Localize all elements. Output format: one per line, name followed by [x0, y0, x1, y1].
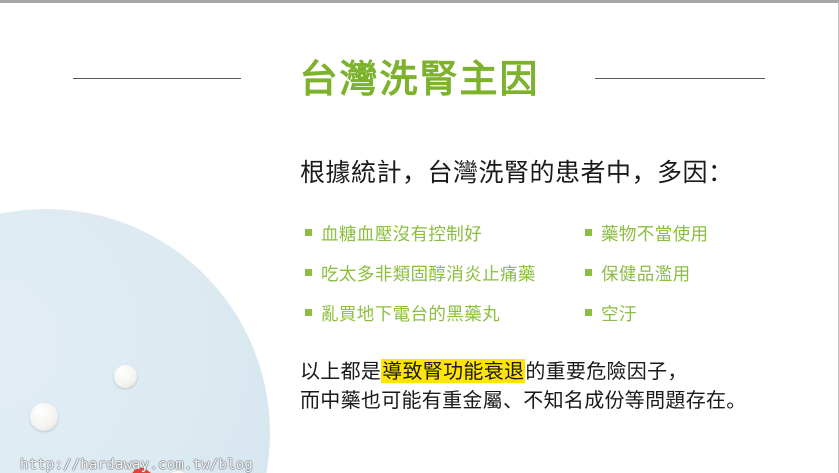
list-item-label: 血糖血壓沒有控制好	[321, 221, 482, 246]
bullet-list-left: 血糖血壓沒有控制好 吃太多非類固醇消炎止痛藥 亂買地下電台的黑藥丸	[305, 221, 536, 341]
list-item: 血糖血壓沒有控制好	[305, 221, 536, 261]
highlighted-text: 導致腎功能衰退	[381, 359, 525, 383]
list-item-label: 亂買地下電台的黑藥丸	[321, 301, 500, 326]
list-item-label: 藥物不當使用	[601, 221, 708, 246]
list-item: 吃太多非類固醇消炎止痛藥	[305, 261, 536, 301]
list-item: 空汙	[585, 301, 708, 341]
intro-text: 根據統計，台灣洗腎的患者中，多因：	[300, 153, 734, 189]
list-item: 藥物不當使用	[585, 221, 708, 261]
tablet	[114, 365, 137, 388]
square-bullet-icon	[305, 269, 312, 276]
footer-paragraph: 以上都是導致腎功能衰退的重要危險因子， 而中藥也可能有重金屬、不知名成份等問題存…	[300, 357, 747, 415]
list-item-label: 保健品濫用	[601, 261, 691, 286]
tablet	[30, 403, 58, 431]
footer-text-after: 的重要危險因子，	[525, 359, 687, 383]
square-bullet-icon	[585, 229, 592, 236]
title-row: 台灣洗腎主因	[0, 61, 839, 111]
footer-line-1: 以上都是導致腎功能衰退的重要危險因子，	[300, 357, 747, 386]
pills-photo	[0, 183, 280, 473]
list-item: 亂買地下電台的黑藥丸	[305, 301, 536, 341]
slide-canvas: 台灣洗腎主因 根據統計，台灣洗腎的患者中，多因： 血糖血壓沒有控制好 吃太多非類…	[0, 0, 839, 473]
blue-plate	[0, 209, 270, 473]
list-item-label: 空汙	[601, 301, 637, 326]
bullet-list-right: 藥物不當使用 保健品濫用 空汙	[585, 221, 708, 341]
page-title: 台灣洗腎主因	[0, 48, 839, 103]
list-item: 保健品濫用	[585, 261, 708, 301]
footer-text-before: 以上都是	[300, 359, 381, 383]
square-bullet-icon	[305, 229, 312, 236]
watermark-url: http://hardaway.com.tw/blog	[20, 457, 253, 473]
square-bullet-icon	[305, 309, 312, 316]
list-item-label: 吃太多非類固醇消炎止痛藥	[321, 261, 536, 286]
square-bullet-icon	[585, 269, 592, 276]
square-bullet-icon	[585, 309, 592, 316]
footer-line-2: 而中藥也可能有重金屬、不知名成份等問題存在。	[300, 386, 747, 415]
